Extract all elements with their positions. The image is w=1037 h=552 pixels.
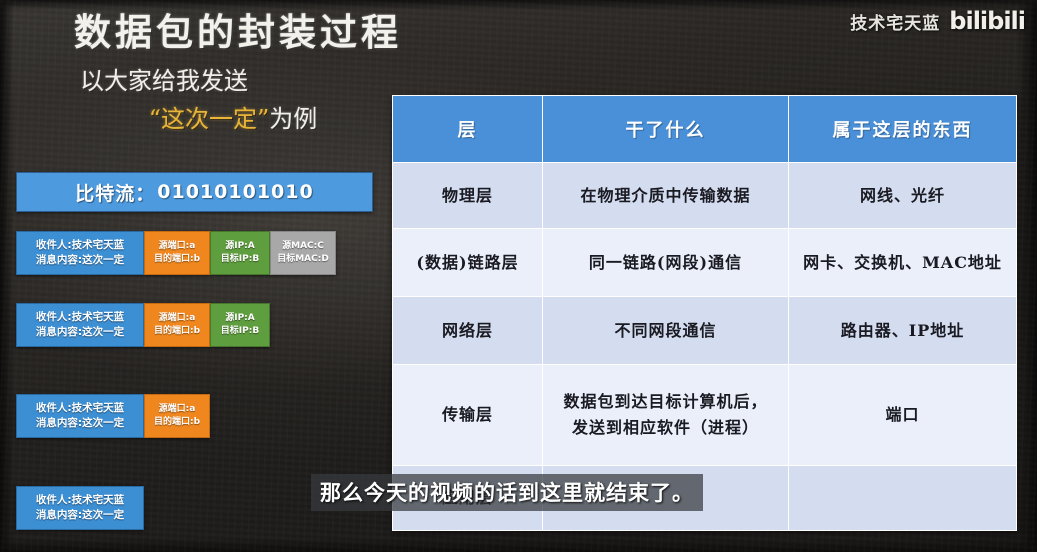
cell-does-line-1: 数据包到达目标计算机后，: [544, 389, 787, 415]
board-edge-bottom: [0, 538, 1037, 552]
lead-tail: 为例: [269, 105, 317, 133]
segment-line-2: 目标IP:B: [221, 325, 259, 338]
board-edge-right: [1017, 0, 1037, 552]
packet-segment-port: 源端口:a 目的端口:b: [144, 394, 210, 438]
bilibili-logo-icon: bilibili: [949, 7, 1025, 35]
cell-layer: (数据)链路层: [393, 229, 543, 297]
osi-layer-table: 层 干了什么 属于这层的东西 物理层 在物理介质中传输数据 网线、光纤 (数据)…: [392, 95, 1017, 531]
table-header-things: 属于这层的东西: [789, 96, 1017, 163]
packet-row-physical-frame: 收件人:技术宅天蓝 消息内容:这次一定 源端口:a 目的端口:b 源IP:A 目…: [16, 231, 336, 275]
bitstream-bar: 比特流： 01010101010: [16, 172, 373, 212]
packet-segment-port: 源端口:a 目的端口:b: [144, 231, 210, 275]
cell-things: 网线、光纤: [789, 163, 1017, 229]
cell-things: 路由器、IP地址: [789, 297, 1017, 365]
channel-watermark: 技术宅天蓝 bilibili: [850, 7, 1025, 35]
table-row: 网络层 不同网段通信 路由器、IP地址: [393, 297, 1017, 365]
bitstream-value: 01010101010: [157, 181, 313, 203]
segment-line-1: 源端口:a: [159, 240, 196, 253]
segment-line-1: 源端口:a: [159, 312, 196, 325]
segment-line-1: 源MAC:C: [282, 240, 324, 253]
packet-segment-ip: 源IP:A 目标IP:B: [210, 303, 270, 347]
segment-line-2: 目的端口:b: [154, 253, 200, 266]
cell-does: 在物理介质中传输数据: [543, 163, 789, 229]
segment-line-2: 消息内容:这次一定: [36, 416, 124, 431]
board-edge-left: [0, 0, 14, 552]
segment-line-1: 源IP:A: [225, 240, 255, 253]
segment-line-2: 消息内容:这次一定: [36, 325, 124, 340]
table-header-row: 层 干了什么 属于这层的东西: [393, 96, 1017, 163]
cell-layer: 物理层: [393, 163, 543, 229]
packet-segment-data: 收件人:技术宅天蓝 消息内容:这次一定: [16, 486, 144, 530]
cell-things: 端口: [789, 365, 1017, 466]
table-header-layer: 层: [393, 96, 543, 163]
segment-line-1: 收件人:技术宅天蓝: [36, 310, 124, 325]
cell-does: 同一链路(网段)通信: [543, 229, 789, 297]
packet-segment-port: 源端口:a 目的端口:b: [144, 303, 210, 347]
packet-row-transport-segment: 收件人:技术宅天蓝 消息内容:这次一定 源端口:a 目的端口:b: [16, 394, 210, 438]
segment-line-1: 收件人:技术宅天蓝: [36, 401, 124, 416]
packet-segment-ip: 源IP:A 目标IP:B: [210, 231, 270, 275]
segment-line-1: 源端口:a: [159, 403, 196, 416]
segment-line-2: 目标MAC:D: [277, 253, 329, 266]
cell-does: 不同网段通信: [543, 297, 789, 365]
segment-line-2: 目的端口:b: [154, 325, 200, 338]
video-subtitle: 那么今天的视频的话到这里就结束了。: [311, 474, 703, 511]
packet-row-network-packet: 收件人:技术宅天蓝 消息内容:这次一定 源端口:a 目的端口:b 源IP:A 目…: [16, 303, 270, 347]
segment-line-1: 收件人:技术宅天蓝: [36, 238, 124, 253]
table-row: (数据)链路层 同一链路(网段)通信 网卡、交换机、MAC地址: [393, 229, 1017, 297]
cell-layer: 传输层: [393, 365, 543, 466]
segment-line-2: 消息内容:这次一定: [36, 253, 124, 268]
watermark-author: 技术宅天蓝: [850, 9, 940, 34]
table-row: 物理层 在物理介质中传输数据 网线、光纤: [393, 163, 1017, 229]
packet-segment-data: 收件人:技术宅天蓝 消息内容:这次一定: [16, 303, 144, 347]
packet-segment-data: 收件人:技术宅天蓝 消息内容:这次一定: [16, 231, 144, 275]
cell-does: 数据包到达目标计算机后， 发送到相应软件（进程）: [543, 365, 789, 466]
lead-highlight: “这次一定”: [149, 105, 270, 133]
cell-things: [789, 466, 1017, 531]
cell-things: 网卡、交换机、MAC地址: [789, 229, 1017, 297]
packet-row-application-data: 收件人:技术宅天蓝 消息内容:这次一定: [16, 486, 144, 530]
segment-line-2: 目的端口:b: [154, 416, 200, 429]
packet-segment-data: 收件人:技术宅天蓝 消息内容:这次一定: [16, 394, 144, 438]
segment-line-2: 目标IP:B: [221, 253, 259, 266]
bitstream-label: 比特流：: [75, 179, 155, 206]
slide-title: 数据包的封装过程: [74, 2, 402, 56]
lead-line-2: “这次一定”为例: [80, 100, 380, 138]
segment-line-1: 源IP:A: [225, 312, 255, 325]
table-row: 传输层 数据包到达目标计算机后， 发送到相应软件（进程） 端口: [393, 365, 1017, 466]
segment-line-1: 收件人:技术宅天蓝: [36, 493, 124, 508]
cell-does-line-2: 发送到相应软件（进程）: [544, 415, 787, 441]
slide-lead-text: 以大家给我发送 “这次一定”为例: [80, 62, 380, 138]
packet-segment-mac: 源MAC:C 目标MAC:D: [270, 231, 336, 275]
table-header-does: 干了什么: [543, 96, 789, 163]
cell-layer: 网络层: [393, 297, 543, 365]
lead-line-1: 以大家给我发送: [80, 67, 248, 95]
segment-line-2: 消息内容:这次一定: [36, 508, 124, 523]
